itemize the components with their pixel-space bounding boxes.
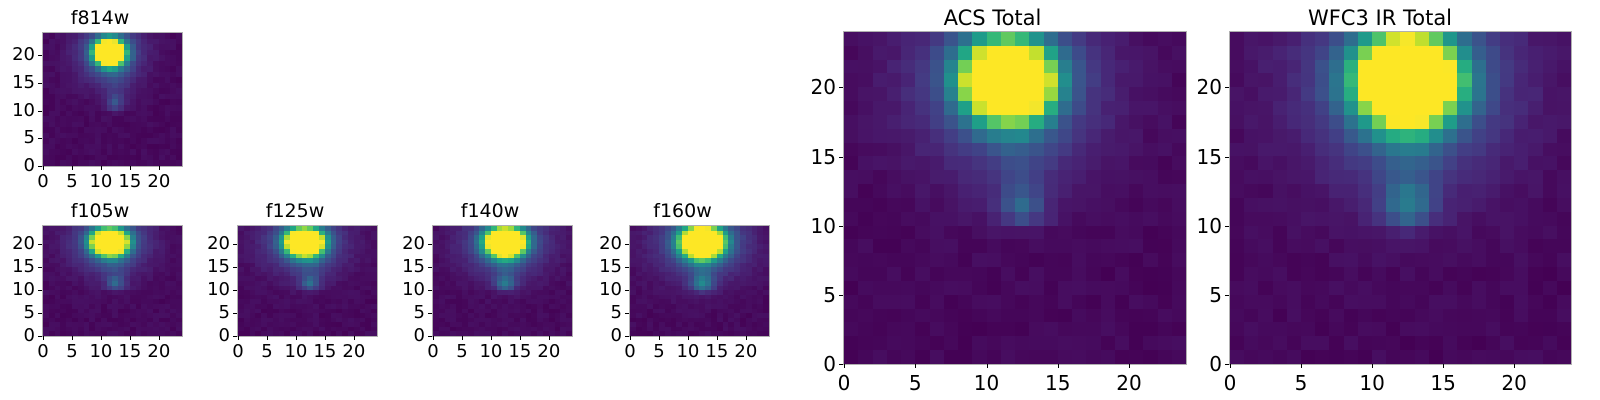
y-tick-label: 0 bbox=[0, 327, 35, 345]
panel-wfc3-ir-total: WFC3 IR Total 0510152005101520 bbox=[1190, 0, 1600, 400]
x-tick-label: 5 bbox=[66, 173, 77, 191]
x-tick-mark bbox=[159, 166, 160, 170]
x-tick-label: 15 bbox=[1045, 373, 1070, 393]
x-tick-mark bbox=[43, 336, 44, 340]
x-tick-mark bbox=[688, 336, 689, 340]
y-tick-label: 10 bbox=[390, 281, 425, 299]
x-tick-mark bbox=[1372, 364, 1373, 368]
y-tick-mark bbox=[233, 313, 237, 314]
x-tick-mark bbox=[1301, 364, 1302, 368]
x-tick-mark bbox=[101, 166, 102, 170]
y-tick-label: 20 bbox=[0, 46, 35, 64]
y-tick-mark bbox=[839, 364, 843, 365]
y-tick-mark bbox=[625, 290, 629, 291]
x-tick-mark bbox=[844, 364, 845, 368]
x-tick-mark bbox=[520, 336, 521, 340]
x-tick-label: 5 bbox=[653, 343, 664, 361]
plot-area-f140w[interactable] bbox=[432, 225, 573, 337]
x-tick-label: 20 bbox=[147, 173, 170, 191]
heatmap-pixels bbox=[630, 226, 769, 336]
y-tick-label: 0 bbox=[585, 327, 622, 345]
x-tick-mark bbox=[72, 166, 73, 170]
x-tick-label: 20 bbox=[537, 343, 560, 361]
plot-area-f814w[interactable] bbox=[42, 32, 183, 167]
x-tick-label: 10 bbox=[284, 343, 307, 361]
y-tick-label: 5 bbox=[0, 304, 35, 322]
x-tick-mark bbox=[1129, 364, 1130, 368]
y-tick-mark bbox=[428, 313, 432, 314]
x-tick-label: 0 bbox=[37, 343, 48, 361]
x-tick-mark bbox=[130, 166, 131, 170]
x-tick-label: 5 bbox=[261, 343, 272, 361]
panel-acs-total: ACS Total 0510152005101520 bbox=[800, 0, 1190, 400]
y-tick-mark bbox=[839, 157, 843, 158]
heatmap-pixels bbox=[844, 32, 1186, 364]
y-tick-label: 20 bbox=[800, 77, 836, 97]
y-tick-label: 0 bbox=[800, 354, 836, 374]
y-tick-mark bbox=[625, 267, 629, 268]
x-tick-label: 20 bbox=[734, 343, 757, 361]
x-tick-label: 0 bbox=[427, 343, 438, 361]
x-tick-label: 15 bbox=[508, 343, 531, 361]
y-tick-label: 5 bbox=[1190, 285, 1222, 305]
y-tick-label: 10 bbox=[195, 281, 230, 299]
x-tick-label: 5 bbox=[1295, 373, 1308, 393]
y-tick-label: 5 bbox=[390, 304, 425, 322]
y-tick-mark bbox=[839, 295, 843, 296]
x-tick-mark bbox=[325, 336, 326, 340]
y-tick-mark bbox=[1225, 157, 1229, 158]
panel-f105w: f105w 0510152005101520 bbox=[0, 196, 200, 400]
panel-title-wfc3-ir-total: WFC3 IR Total bbox=[1190, 8, 1570, 29]
x-tick-mark bbox=[987, 364, 988, 368]
y-tick-label: 20 bbox=[1190, 77, 1222, 97]
x-tick-mark bbox=[238, 336, 239, 340]
y-tick-label: 15 bbox=[800, 147, 836, 167]
y-tick-mark bbox=[428, 336, 432, 337]
y-tick-mark bbox=[38, 55, 42, 56]
x-tick-mark bbox=[659, 336, 660, 340]
x-tick-label: 5 bbox=[909, 373, 922, 393]
y-tick-mark bbox=[1225, 226, 1229, 227]
x-tick-mark bbox=[72, 336, 73, 340]
y-tick-label: 20 bbox=[390, 235, 425, 253]
x-tick-mark bbox=[549, 336, 550, 340]
x-tick-label: 15 bbox=[1430, 373, 1455, 393]
y-tick-mark bbox=[1225, 87, 1229, 88]
x-tick-label: 0 bbox=[37, 173, 48, 191]
plot-area-acs-total[interactable] bbox=[843, 31, 1187, 365]
x-tick-label: 20 bbox=[1501, 373, 1526, 393]
panel-title-f160w: f160w bbox=[585, 202, 780, 221]
x-tick-mark bbox=[462, 336, 463, 340]
x-tick-mark bbox=[433, 336, 434, 340]
x-tick-mark bbox=[130, 336, 131, 340]
panel-f140w: f140w 0510152005101520 bbox=[390, 196, 590, 400]
x-tick-mark bbox=[717, 336, 718, 340]
x-tick-mark bbox=[1230, 364, 1231, 368]
x-tick-label: 5 bbox=[456, 343, 467, 361]
y-tick-mark bbox=[38, 336, 42, 337]
plot-area-f105w[interactable] bbox=[42, 225, 183, 337]
x-tick-mark bbox=[1443, 364, 1444, 368]
x-tick-mark bbox=[1058, 364, 1059, 368]
x-tick-label: 0 bbox=[624, 343, 635, 361]
x-tick-label: 15 bbox=[118, 343, 141, 361]
y-tick-label: 10 bbox=[800, 216, 836, 236]
figure-canvas: f814w 0510152005101520 f105w 05101520051… bbox=[0, 0, 1600, 400]
x-tick-mark bbox=[43, 166, 44, 170]
y-tick-mark bbox=[38, 267, 42, 268]
panel-f814w: f814w 0510152005101520 bbox=[0, 0, 200, 190]
y-tick-label: 0 bbox=[1190, 354, 1222, 374]
y-tick-mark bbox=[233, 244, 237, 245]
y-tick-label: 0 bbox=[0, 157, 35, 175]
y-tick-mark bbox=[625, 244, 629, 245]
y-tick-mark bbox=[38, 290, 42, 291]
heatmap-pixels bbox=[43, 226, 182, 336]
y-tick-mark bbox=[38, 83, 42, 84]
y-tick-label: 15 bbox=[585, 258, 622, 276]
x-tick-label: 10 bbox=[974, 373, 999, 393]
plot-area-f125w[interactable] bbox=[237, 225, 378, 337]
x-tick-label: 10 bbox=[479, 343, 502, 361]
x-tick-label: 20 bbox=[1116, 373, 1141, 393]
y-tick-mark bbox=[38, 111, 42, 112]
y-tick-label: 20 bbox=[195, 235, 230, 253]
x-tick-mark bbox=[1514, 364, 1515, 368]
y-tick-label: 10 bbox=[0, 281, 35, 299]
y-tick-mark bbox=[625, 336, 629, 337]
y-tick-mark bbox=[1225, 295, 1229, 296]
panel-title-f140w: f140w bbox=[390, 202, 590, 221]
x-tick-mark bbox=[101, 336, 102, 340]
x-tick-label: 20 bbox=[147, 343, 170, 361]
panel-f125w: f125w 0510152005101520 bbox=[195, 196, 395, 400]
y-tick-label: 5 bbox=[195, 304, 230, 322]
x-tick-label: 10 bbox=[676, 343, 699, 361]
x-tick-label: 15 bbox=[705, 343, 728, 361]
y-tick-label: 15 bbox=[195, 258, 230, 276]
panel-title-f105w: f105w bbox=[0, 202, 200, 221]
x-tick-label: 5 bbox=[66, 343, 77, 361]
x-tick-mark bbox=[746, 336, 747, 340]
y-tick-label: 15 bbox=[0, 74, 35, 92]
y-tick-mark bbox=[839, 226, 843, 227]
y-tick-label: 0 bbox=[390, 327, 425, 345]
y-tick-mark bbox=[233, 267, 237, 268]
y-tick-mark bbox=[839, 87, 843, 88]
x-tick-label: 15 bbox=[313, 343, 336, 361]
y-tick-label: 20 bbox=[585, 235, 622, 253]
y-tick-label: 15 bbox=[1190, 147, 1222, 167]
y-tick-mark bbox=[38, 166, 42, 167]
panel-title-acs-total: ACS Total bbox=[800, 8, 1185, 29]
y-tick-mark bbox=[428, 267, 432, 268]
panel-title-f814w: f814w bbox=[0, 9, 200, 28]
y-tick-mark bbox=[38, 313, 42, 314]
x-tick-mark bbox=[491, 336, 492, 340]
y-tick-label: 10 bbox=[0, 102, 35, 120]
x-tick-mark bbox=[267, 336, 268, 340]
y-tick-mark bbox=[233, 336, 237, 337]
y-tick-label: 10 bbox=[1190, 216, 1222, 236]
x-tick-label: 15 bbox=[118, 173, 141, 191]
x-tick-mark bbox=[354, 336, 355, 340]
plot-area-f160w[interactable] bbox=[629, 225, 770, 337]
x-tick-label: 0 bbox=[1224, 373, 1237, 393]
x-tick-label: 10 bbox=[1359, 373, 1384, 393]
y-tick-mark bbox=[1225, 364, 1229, 365]
x-tick-label: 20 bbox=[342, 343, 365, 361]
heatmap-pixels bbox=[433, 226, 572, 336]
x-tick-label: 0 bbox=[232, 343, 243, 361]
x-tick-label: 10 bbox=[89, 343, 112, 361]
y-tick-mark bbox=[233, 290, 237, 291]
y-tick-label: 15 bbox=[0, 258, 35, 276]
y-tick-mark bbox=[428, 290, 432, 291]
x-tick-mark bbox=[630, 336, 631, 340]
x-tick-mark bbox=[296, 336, 297, 340]
heatmap-pixels bbox=[1230, 32, 1571, 364]
x-tick-mark bbox=[915, 364, 916, 368]
heatmap-pixels bbox=[43, 33, 182, 166]
y-tick-label: 15 bbox=[390, 258, 425, 276]
x-tick-label: 10 bbox=[89, 173, 112, 191]
x-tick-label: 0 bbox=[838, 373, 851, 393]
y-tick-label: 10 bbox=[585, 281, 622, 299]
plot-area-wfc3-ir-total[interactable] bbox=[1229, 31, 1572, 365]
y-tick-mark bbox=[428, 244, 432, 245]
y-tick-label: 5 bbox=[585, 304, 622, 322]
y-tick-label: 5 bbox=[0, 129, 35, 147]
panel-title-f125w: f125w bbox=[195, 202, 395, 221]
heatmap-pixels bbox=[238, 226, 377, 336]
y-tick-mark bbox=[38, 244, 42, 245]
y-tick-mark bbox=[38, 138, 42, 139]
panel-f160w: f160w 0510152005101520 bbox=[585, 196, 790, 400]
y-tick-mark bbox=[625, 313, 629, 314]
y-tick-label: 20 bbox=[0, 235, 35, 253]
y-tick-label: 0 bbox=[195, 327, 230, 345]
x-tick-mark bbox=[159, 336, 160, 340]
y-tick-label: 5 bbox=[800, 285, 836, 305]
